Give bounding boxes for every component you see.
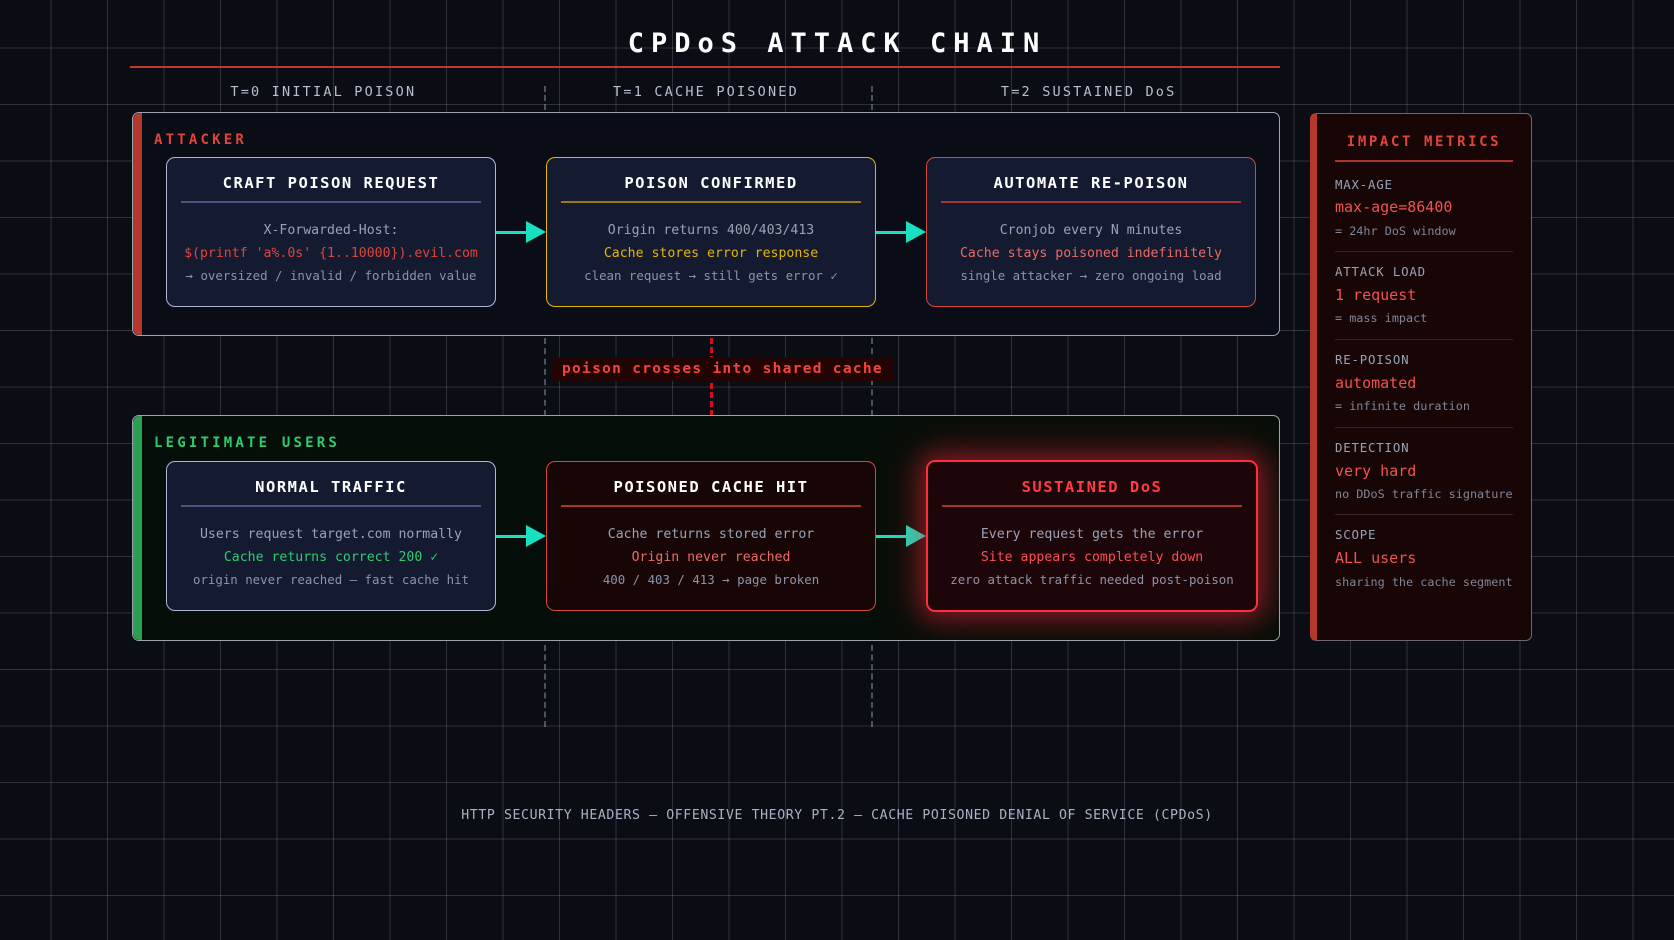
metric-key: MAX-AGE — [1335, 175, 1513, 195]
title-divider — [130, 66, 1280, 68]
metrics-divider — [1335, 160, 1513, 162]
card-line: Users request target.com normally — [181, 523, 481, 546]
footer-caption: HTTP SECURITY HEADERS — OFFENSIVE THEORY… — [0, 808, 1674, 823]
card-line: Site appears completely down — [942, 546, 1242, 569]
metric-row: RE-POISON automated = infinite duration — [1335, 350, 1513, 428]
metric-row: DETECTION very hard no DDoS traffic sign… — [1335, 438, 1513, 516]
card-line: Origin returns 400/403/413 — [561, 219, 861, 242]
card-divider — [941, 201, 1241, 203]
metric-note: no DDoS traffic signature — [1335, 484, 1513, 505]
card-line: $(printf 'a%.0s' {1..10000}).evil.com — [181, 242, 481, 265]
card-title: SUSTAINED DoS — [942, 478, 1242, 505]
flow-arrow-icon — [496, 526, 546, 546]
card-title: POISONED CACHE HIT — [561, 478, 861, 505]
card-line: Cache returns stored error — [561, 523, 861, 546]
metric-key: SCOPE — [1335, 525, 1513, 545]
metric-row: MAX-AGE max-age=86400 = 24hr DoS window — [1335, 175, 1513, 253]
card-title: AUTOMATE RE-POISON — [941, 174, 1241, 201]
card-line: Cronjob every N minutes — [941, 219, 1241, 242]
card-poisoned-cache-hit[interactable]: POISONED CACHE HIT Cache returns stored … — [546, 461, 876, 611]
card-line: Cache stores error response — [561, 242, 861, 265]
metric-key: RE-POISON — [1335, 350, 1513, 370]
timeline-header: T=0 INITIAL POISON T=1 CACHE POISONED T=… — [132, 84, 1280, 106]
card-divider — [561, 505, 861, 507]
phase-divider-1-mid — [544, 338, 546, 416]
card-title: NORMAL TRAFFIC — [181, 478, 481, 505]
card-automate-re-poison[interactable]: AUTOMATE RE-POISON Cronjob every N minut… — [926, 157, 1256, 307]
metric-note: = 24hr DoS window — [1335, 221, 1513, 242]
metric-value: automated — [1335, 370, 1513, 396]
impact-metrics-panel: IMPACT METRICS MAX-AGE max-age=86400 = 2… — [1310, 113, 1532, 641]
card-sustained-dos[interactable]: SUSTAINED DoS Every request gets the err… — [926, 460, 1258, 612]
card-divider — [561, 201, 861, 203]
metric-value: ALL users — [1335, 545, 1513, 571]
card-line: Cache stays poisoned indefinitely — [941, 242, 1241, 265]
card-line: clean request → still gets error ✓ — [561, 265, 861, 287]
metric-value: 1 request — [1335, 282, 1513, 308]
metric-row: SCOPE ALL users sharing the cache segmen… — [1335, 525, 1513, 602]
lane-attacker-label: ATTACKER — [154, 132, 247, 148]
card-craft-poison-request[interactable]: CRAFT POISON REQUEST X-Forwarded-Host: $… — [166, 157, 496, 307]
lane-users-cards: NORMAL TRAFFIC Users request target.com … — [166, 460, 1246, 612]
metric-value: max-age=86400 — [1335, 194, 1513, 220]
page-title: CPDoS ATTACK CHAIN — [0, 28, 1674, 59]
timeline-phase-1: T=1 CACHE POISONED — [515, 84, 898, 106]
card-line: → oversized / invalid / forbidden value — [181, 265, 481, 287]
card-divider — [181, 505, 481, 507]
card-divider — [181, 201, 481, 203]
card-poison-confirmed[interactable]: POISON CONFIRMED Origin returns 400/403/… — [546, 157, 876, 307]
phase-divider-1-top — [544, 86, 546, 110]
phase-divider-1-bottom — [544, 645, 546, 727]
lane-users-label: LEGITIMATE USERS — [154, 435, 340, 451]
metric-row: ATTACK LOAD 1 request = mass impact — [1335, 262, 1513, 340]
card-line: Every request gets the error — [942, 523, 1242, 546]
flow-arrow-icon — [876, 526, 926, 546]
metrics-title: IMPACT METRICS — [1335, 134, 1513, 160]
lane-legitimate-users: LEGITIMATE USERS NORMAL TRAFFIC Users re… — [132, 415, 1280, 641]
card-normal-traffic[interactable]: NORMAL TRAFFIC Users request target.com … — [166, 461, 496, 611]
card-line: 400 / 403 / 413 → page broken — [561, 569, 861, 591]
metric-key: DETECTION — [1335, 438, 1513, 458]
transition-banner: poison crosses into shared cache — [552, 357, 893, 381]
metric-note: sharing the cache segment — [1335, 572, 1513, 593]
lane-attacker-cards: CRAFT POISON REQUEST X-Forwarded-Host: $… — [166, 157, 1246, 307]
card-title: POISON CONFIRMED — [561, 174, 861, 201]
diagram-canvas: CPDoS ATTACK CHAIN T=0 INITIAL POISON T=… — [0, 0, 1674, 940]
card-title: CRAFT POISON REQUEST — [181, 174, 481, 201]
metric-note: = mass impact — [1335, 308, 1513, 329]
metric-value: very hard — [1335, 458, 1513, 484]
phase-divider-2-top — [871, 86, 873, 110]
card-divider — [942, 505, 1242, 507]
lane-attacker: ATTACKER CRAFT POISON REQUEST X-Forwarde… — [132, 112, 1280, 336]
card-line: zero attack traffic needed post-poison — [942, 569, 1242, 591]
flow-arrow-icon — [496, 222, 546, 242]
card-line: origin never reached — fast cache hit — [181, 569, 481, 591]
card-line: X-Forwarded-Host: — [181, 219, 481, 242]
phase-divider-2-bottom — [871, 645, 873, 727]
card-line: Cache returns correct 200 ✓ — [181, 546, 481, 569]
card-line: single attacker → zero ongoing load — [941, 265, 1241, 287]
flow-arrow-icon — [876, 222, 926, 242]
metric-key: ATTACK LOAD — [1335, 262, 1513, 282]
timeline-phase-0: T=0 INITIAL POISON — [132, 84, 515, 106]
metric-note: = infinite duration — [1335, 396, 1513, 417]
card-line: Origin never reached — [561, 546, 861, 569]
timeline-phase-2: T=2 SUSTAINED DoS — [897, 84, 1280, 106]
